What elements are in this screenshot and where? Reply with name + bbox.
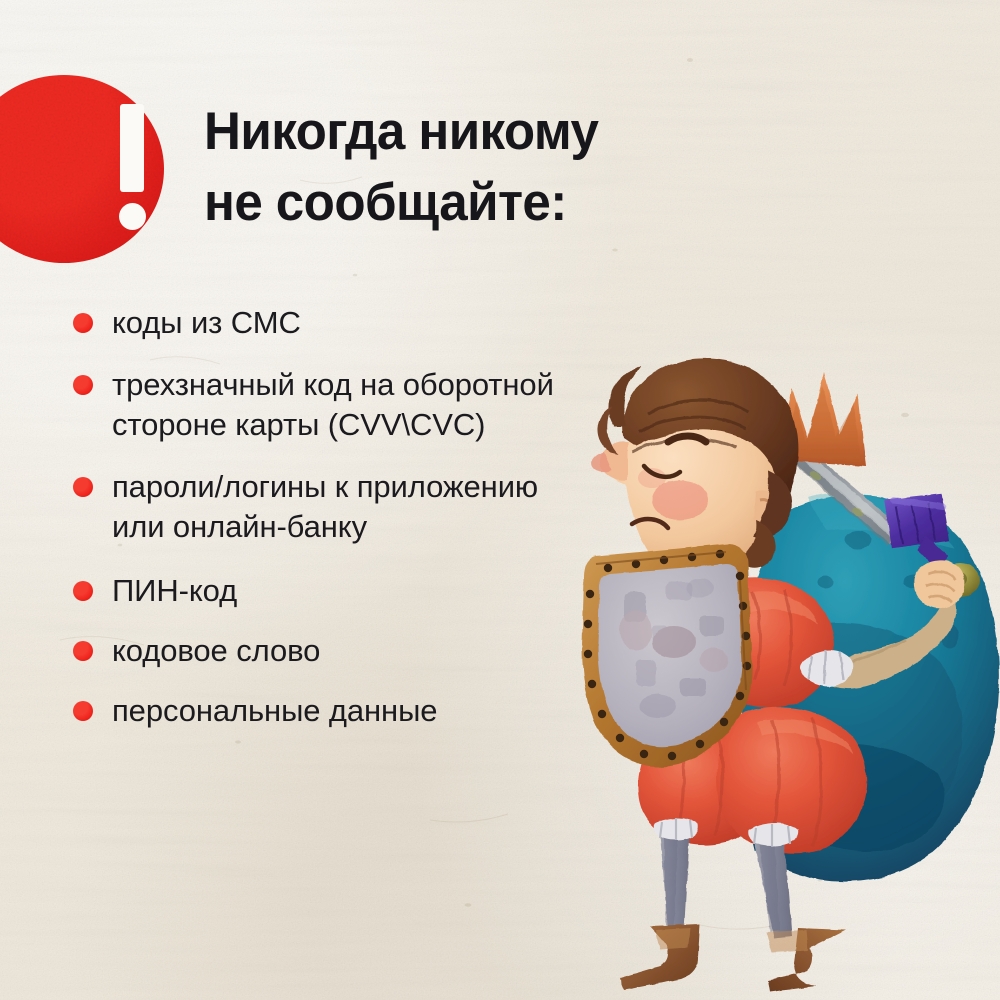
boot-left <box>620 924 700 990</box>
bullet-dot-icon <box>73 313 93 333</box>
poster-canvas: Никогда никому не сообщайте: коды из СМС… <box>0 0 1000 1000</box>
prince-illustration <box>540 330 1000 1000</box>
bullet-dot-icon <box>73 375 93 395</box>
exclamation-dot-icon <box>119 203 146 230</box>
bullet-dot-icon <box>73 477 93 497</box>
boot-right <box>766 928 846 992</box>
shield <box>582 544 752 766</box>
exclamation-mark-icon <box>120 104 144 192</box>
prince-illustration-svg <box>540 330 1000 1000</box>
page-title: Никогда никому не сообщайте: <box>204 96 725 238</box>
bullet-dot-icon <box>73 641 93 661</box>
bullet-dot-icon <box>73 701 93 721</box>
bullet-dot-icon <box>73 581 93 601</box>
